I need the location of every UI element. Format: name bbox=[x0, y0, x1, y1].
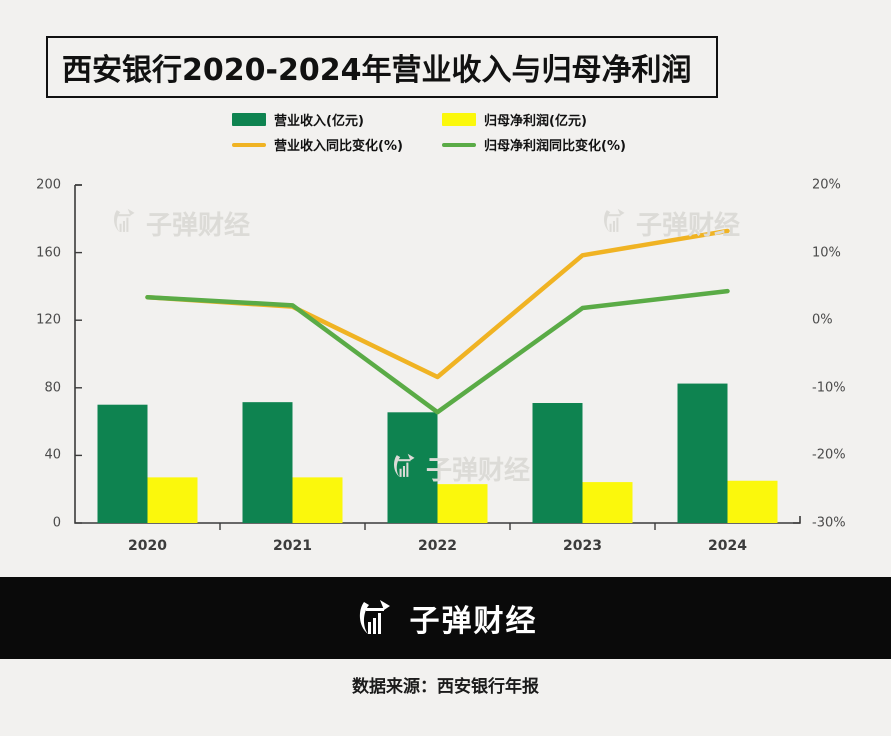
y2-axis-tick-label: -30% bbox=[812, 516, 846, 531]
bar-profit bbox=[293, 477, 343, 523]
bar-revenue bbox=[678, 384, 728, 523]
brand-banner: 子弹财经 bbox=[0, 577, 891, 659]
brand-name: 子弹财经 bbox=[410, 596, 538, 640]
x-axis-tick-label: 2021 bbox=[273, 538, 312, 554]
bar-profit bbox=[583, 482, 633, 523]
bar-profit bbox=[438, 484, 488, 523]
y2-axis-tick-label: -20% bbox=[812, 448, 846, 463]
y-axis-tick-label: 0 bbox=[0, 516, 61, 531]
line-profit-yoy bbox=[148, 291, 728, 412]
x-axis-tick-label: 2023 bbox=[563, 538, 602, 554]
bar-revenue bbox=[243, 402, 293, 523]
bar-profit bbox=[728, 481, 778, 523]
brand-logo-icon bbox=[354, 595, 398, 641]
y2-axis-tick-label: 10% bbox=[812, 245, 841, 260]
y2-axis-tick-label: 20% bbox=[812, 178, 841, 193]
bar-revenue bbox=[533, 403, 583, 523]
y2-axis-tick-label: -10% bbox=[812, 380, 846, 395]
bar-revenue bbox=[98, 405, 148, 523]
y-axis-tick-label: 120 bbox=[0, 313, 61, 328]
y-axis-tick-label: 200 bbox=[0, 178, 61, 193]
y-axis-tick-label: 160 bbox=[0, 245, 61, 260]
bullet-chart-logo-icon bbox=[356, 596, 396, 640]
bar-profit bbox=[148, 477, 198, 523]
x-axis-tick-label: 2024 bbox=[708, 538, 747, 554]
source-note: 数据来源：西安银行年报 bbox=[0, 672, 891, 697]
x-axis-tick-label: 2022 bbox=[418, 538, 457, 554]
y-axis-tick-label: 40 bbox=[0, 448, 61, 463]
y-axis-tick-label: 80 bbox=[0, 380, 61, 395]
bar-revenue bbox=[388, 412, 438, 523]
chart-page: 西安银行2020-2024年营业收入与归母净利润 营业收入(亿元) 归母净利润(… bbox=[0, 0, 891, 736]
x-axis-tick-label: 2020 bbox=[128, 538, 167, 554]
y2-axis-tick-label: 0% bbox=[812, 313, 833, 328]
